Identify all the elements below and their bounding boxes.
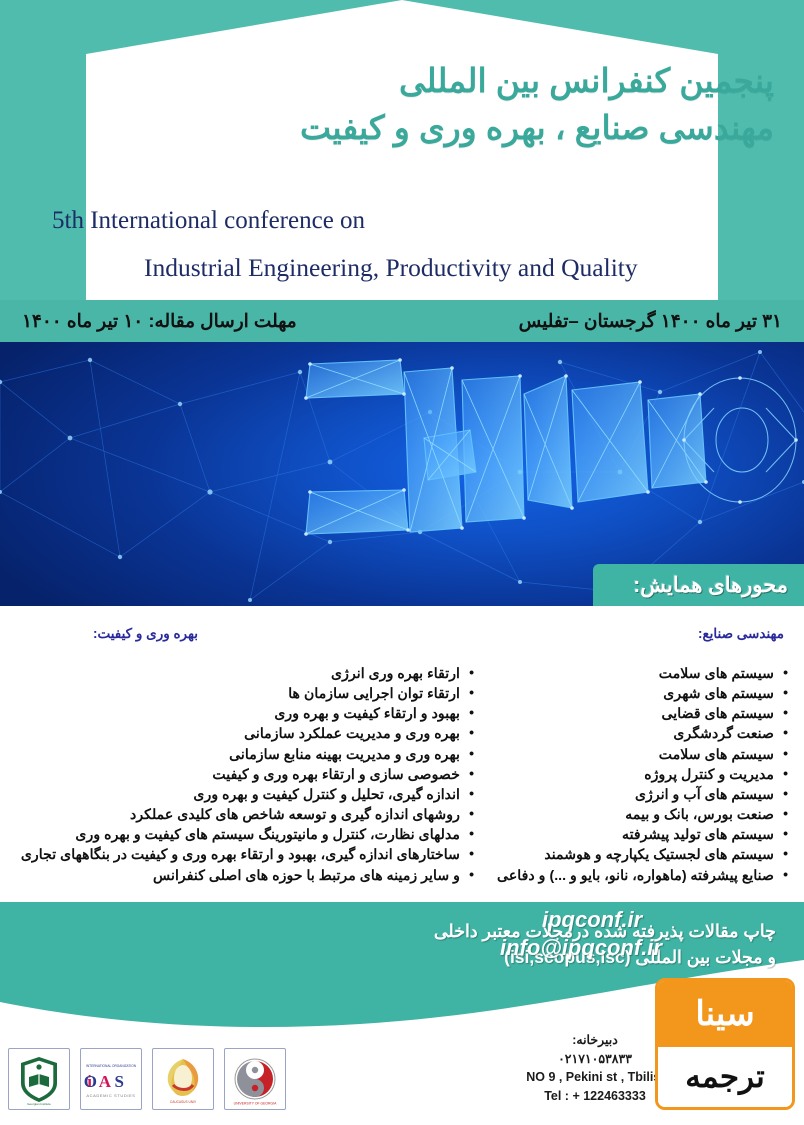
email-link[interactable]: info@ipqconf.ir <box>500 934 740 962</box>
english-title: 5th International conference on Industri… <box>52 208 762 281</box>
conference-date-location: ۳۱ تیر ماه ۱۴۰۰ گرجستان –تفلیس <box>519 310 782 332</box>
topic-list-item: سیستم های سلامت <box>492 745 788 765</box>
topic-list-item: سیستم های آب و انرژی <box>492 785 788 805</box>
contact-web-block: ipqconf.ir info@ipqconf.ir <box>500 906 740 962</box>
topic-list-item: سیستم های لجستیک یکپارچه و هوشمند <box>492 845 788 865</box>
topic-list-item: سیستم های سلامت <box>492 664 788 684</box>
website-link[interactable]: ipqconf.ir <box>500 906 740 934</box>
svg-text:UNIVERSITY OF GEORGIA: UNIVERSITY OF GEORGIA <box>234 1102 277 1106</box>
topic-list-industrial-engineering: سیستم های سلامتسیستم های شهریسیستم های ق… <box>492 664 794 886</box>
svg-text:ACADEMIC STUDIES: ACADEMIC STUDIES <box>86 1093 135 1098</box>
university-of-georgia-emblem-icon: UNIVERSITY OF GEORGIA <box>227 1051 283 1107</box>
watermark-bottom: ترجمه <box>658 1047 792 1107</box>
submission-deadline: مهلت ارسال مقاله: ۱۰ تیر ماه ۱۴۰۰ <box>22 310 297 332</box>
topic-list-productivity-quality: ارتقاء بهره وری انرژیارتقاء توان اجرایی … <box>14 664 474 886</box>
persian-title-line2: مهندسی صنایع ، بهره وری و کیفیت <box>194 105 774 152</box>
topic-list-item: صنعت گردشگری <box>492 724 788 744</box>
sina-tarjome-watermark: سینا ترجمه <box>655 978 795 1110</box>
svg-text:A: A <box>99 1072 112 1091</box>
topics-column-productivity-quality: بهره وری و کیفیت: ارتقاء بهره وری انرژیا… <box>0 626 484 886</box>
topic-list-item: مدیریت و کنترل پروژه <box>492 765 788 785</box>
topic-list-item: روشهای اندازه گیری و توسعه شاخص های کلید… <box>14 805 474 825</box>
topics-banner-label: محورهای همایش: <box>633 573 788 598</box>
topic-list-item: بهره وری و مدیریت عملکرد سازمانی <box>14 724 474 744</box>
sponsor-logos: UNIVERSITY OF GEORGIA CAUCASUS UNIV INTE… <box>8 1048 286 1110</box>
topic-list-item: سیستم های تولید پیشرفته <box>492 825 788 845</box>
ioas-academic-studies-icon: INTERNATIONAL ORGANIZATION i O A S ACADE… <box>83 1051 139 1107</box>
topics-section: مهندسی صنایع: سیستم های سلامتسیستم های ش… <box>0 606 804 902</box>
topic-list-item: و سایر زمینه های مرتبط با حوزه های اصلی … <box>14 866 474 886</box>
svg-text:O: O <box>84 1072 97 1091</box>
watermark-top: سینا <box>658 981 792 1047</box>
conference-poster: پنجمین کنفرانس بین المللی مهندسی صنایع ،… <box>0 0 804 1125</box>
persian-title: پنجمین کنفرانس بین المللی مهندسی صنایع ،… <box>194 58 774 152</box>
date-deadline-bar: ۳۱ تیر ماه ۱۴۰۰ گرجستان –تفلیس مهلت ارسا… <box>0 300 804 342</box>
topic-list-item: بهره وری و مدیریت بهینه منابع سازمانی <box>14 745 474 765</box>
georgian-institute-shield-icon: Georgian Institute <box>11 1051 67 1107</box>
topics-heading-industrial-engineering: مهندسی صنایع: <box>492 626 794 642</box>
topic-list-item: صنعت بورس، بانک و بیمه <box>492 805 788 825</box>
svg-text:Georgian Institute: Georgian Institute <box>27 1102 51 1106</box>
topics-column-industrial-engineering: مهندسی صنایع: سیستم های سلامتسیستم های ش… <box>484 626 804 886</box>
topic-list-item: اندازه گیری، تحلیل و کنترل کیفیت و بهره … <box>14 785 474 805</box>
watermark-bottom-text: ترجمه <box>685 1059 764 1095</box>
topic-list-item: سیستم های شهری <box>492 684 788 704</box>
topic-list-item: سیستم های قضایی <box>492 704 788 724</box>
topic-list-item: صنایع پیشرفته (ماهواره، نانو، بایو و ...… <box>492 866 788 886</box>
topic-list-item: خصوصی سازی و ارتقاء بهره وری و کیفیت <box>14 765 474 785</box>
svg-text:INTERNATIONAL ORGANIZATION: INTERNATIONAL ORGANIZATION <box>86 1064 137 1068</box>
english-title-line2: Industrial Engineering, Productivity and… <box>52 255 762 281</box>
english-title-line1: 5th International conference on <box>52 207 365 234</box>
georgian-institute-logo: Georgian Institute <box>8 1048 70 1110</box>
topics-banner: محورهای همایش: <box>593 564 804 606</box>
topics-heading-productivity-quality: بهره وری و کیفیت: <box>14 626 474 642</box>
persian-title-line1: پنجمین کنفرانس بین المللی <box>194 58 774 105</box>
topic-list-item: ارتقاء توان اجرایی سازمان ها <box>14 684 474 704</box>
georgian-technical-university-logo: UNIVERSITY OF GEORGIA <box>224 1048 286 1110</box>
topic-list-item: مدلهای نظارت، کنترل و مانیتورینگ سیستم ه… <box>14 825 474 845</box>
topic-list-item: ارتقاء بهره وری انرژی <box>14 664 474 684</box>
caucasus-university-logo: CAUCASUS UNIV <box>152 1048 214 1110</box>
ioas-logo: INTERNATIONAL ORGANIZATION i O A S ACADE… <box>80 1048 142 1110</box>
svg-text:CAUCASUS UNIV: CAUCASUS UNIV <box>170 1100 197 1104</box>
topic-list-item: بهبود و ارتقاء کیفیت و بهره وری <box>14 704 474 724</box>
svg-text:S: S <box>115 1072 124 1091</box>
watermark-top-text: سینا <box>695 994 754 1034</box>
topic-list-item: ساختارهای اندازه گیری، بهبود و ارتقاء به… <box>14 845 474 865</box>
poster-header: پنجمین کنفرانس بین المللی مهندسی صنایع ،… <box>0 0 804 300</box>
caucasus-university-emblem-icon: CAUCASUS UNIV <box>155 1051 211 1107</box>
hero-robotic-arm-image: محورهای همایش: <box>0 342 804 606</box>
